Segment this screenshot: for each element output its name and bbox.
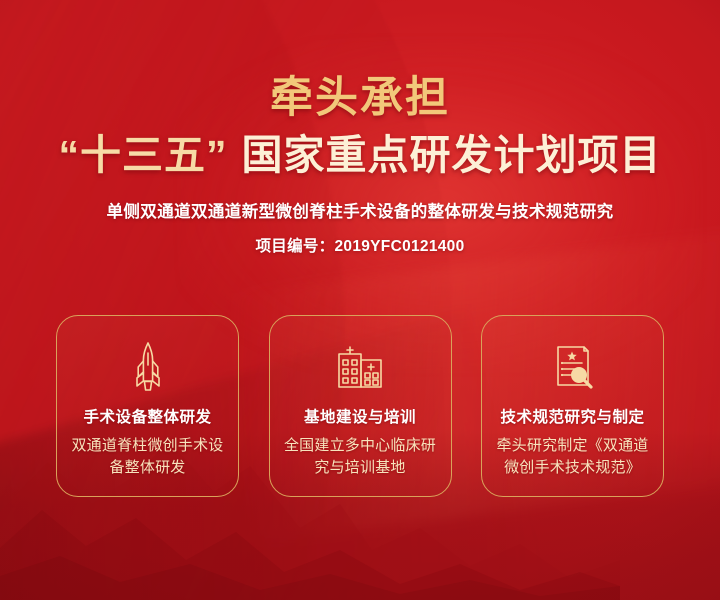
page-title-lead: 牵头承担 <box>0 72 720 124</box>
feature-card-title: 基地建设与培训 <box>280 408 441 428</box>
feature-card-description: 牵头研究制定《双通道微创手术技术规范》 <box>492 435 653 479</box>
feature-card-base-training[interactable]: 基地建设与培训 全国建立多中心临床研究与培训基地 <box>269 315 452 497</box>
feature-card-description: 双通道脊柱微创手术设备整体研发 <box>67 435 228 479</box>
hero-text-block: 牵头承担 “十三五”国家重点研发计划项目 单侧双通道双通道新型微创脊柱手术设备的… <box>0 72 720 258</box>
feature-card-row: 手术设备整体研发 双通道脊柱微创手术设备整体研发 <box>56 315 664 497</box>
rocket-icon <box>67 340 228 394</box>
feature-card-technical-standard[interactable]: 技术规范研究与制定 牵头研究制定《双通道微创手术技术规范》 <box>481 315 664 497</box>
document-search-icon <box>492 340 653 394</box>
promotional-poster: 牵头承担 “十三五”国家重点研发计划项目 单侧双通道双通道新型微创脊柱手术设备的… <box>0 0 720 600</box>
feature-card-equipment-rnd[interactable]: 手术设备整体研发 双通道脊柱微创手术设备整体研发 <box>56 315 239 497</box>
page-title-plain-segment: 国家重点研发计划项目 <box>242 132 662 178</box>
page-title-quoted-segment: “十三五” <box>59 132 228 178</box>
feature-card-title: 手术设备整体研发 <box>67 408 228 428</box>
feature-card-description: 全国建立多中心临床研究与培训基地 <box>280 435 441 479</box>
hospital-building-icon <box>280 340 441 394</box>
page-subtitle: 单侧双通道双通道新型微创脊柱手术设备的整体研发与技术规范研究 <box>0 200 720 224</box>
project-number: 项目编号：2019YFC0121400 <box>0 236 720 258</box>
page-title-main: “十三五”国家重点研发计划项目 <box>0 130 720 180</box>
feature-card-title: 技术规范研究与制定 <box>492 408 653 428</box>
